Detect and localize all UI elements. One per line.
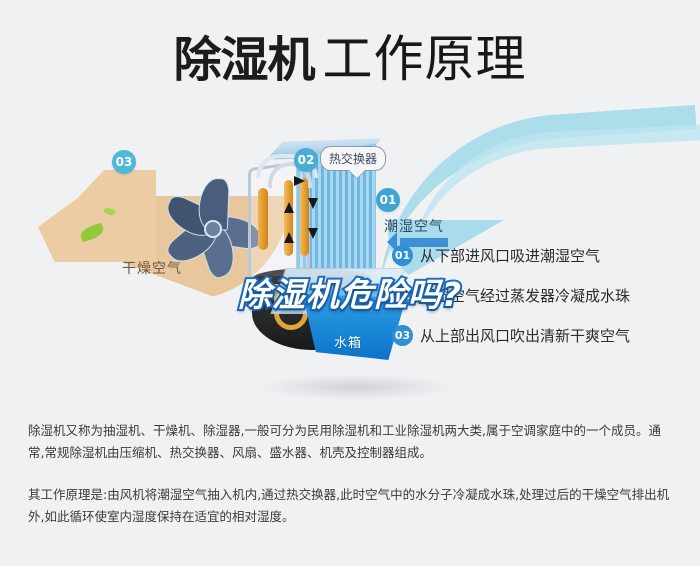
airflow-arrow-icon — [284, 202, 294, 213]
refrigerant-coil — [300, 178, 309, 256]
diagram-badge-03: 03 — [112, 150, 136, 174]
airflow-arrow-icon — [308, 228, 318, 239]
airflow-arrow-icon — [308, 198, 318, 209]
ground-shadow — [256, 374, 456, 400]
humid-air-label: 潮湿空气 — [384, 216, 444, 236]
refrigerant-coil — [284, 180, 293, 256]
dry-air-arrow-head — [38, 170, 156, 262]
step-text: 从下部进风口吸进潮湿空气 — [420, 245, 600, 266]
page-title: 除湿机工作原理 — [0, 34, 700, 84]
overlay-headline: 除湿机危险吗? — [0, 268, 700, 316]
dehumidifier-cutaway: 水箱 — [238, 136, 416, 386]
diagram-badge-01: 01 — [376, 188, 400, 212]
step-item: 01 从下部进风口吸进潮湿空气 — [392, 245, 692, 266]
airflow-arrow-icon — [294, 176, 310, 186]
water-tank-label: 水箱 — [334, 332, 362, 351]
page-title-bold: 除湿机 — [173, 32, 314, 88]
infographic-page: 除湿机工作原理 干燥空气 — [0, 0, 700, 566]
step-item: 03 从上部出风口吹出清新干爽空气 — [392, 325, 692, 346]
step-badge: 03 — [392, 325, 413, 346]
body-paragraph-1: 除湿机又称为抽湿机、干燥机、除湿器,一般可分为民用除湿机和工业除湿机两大类,属于… — [28, 420, 676, 464]
diagram-badge-02: 02 — [294, 148, 318, 172]
fan-hub — [204, 220, 222, 238]
page-title-light: 工作原理 — [323, 30, 527, 88]
airflow-arrow-icon — [284, 232, 294, 243]
refrigerant-coil — [258, 188, 268, 250]
body-paragraph-2: 其工作原理是:由风机将潮湿空气抽入机内,通过热交换器,此时空气中的水分子冷凝成水… — [28, 484, 676, 528]
step-badge: 01 — [392, 245, 413, 266]
heat-exchanger-callout: 热交换器 — [320, 146, 386, 171]
step-text: 从上部出风口吹出清新干爽空气 — [420, 325, 630, 346]
